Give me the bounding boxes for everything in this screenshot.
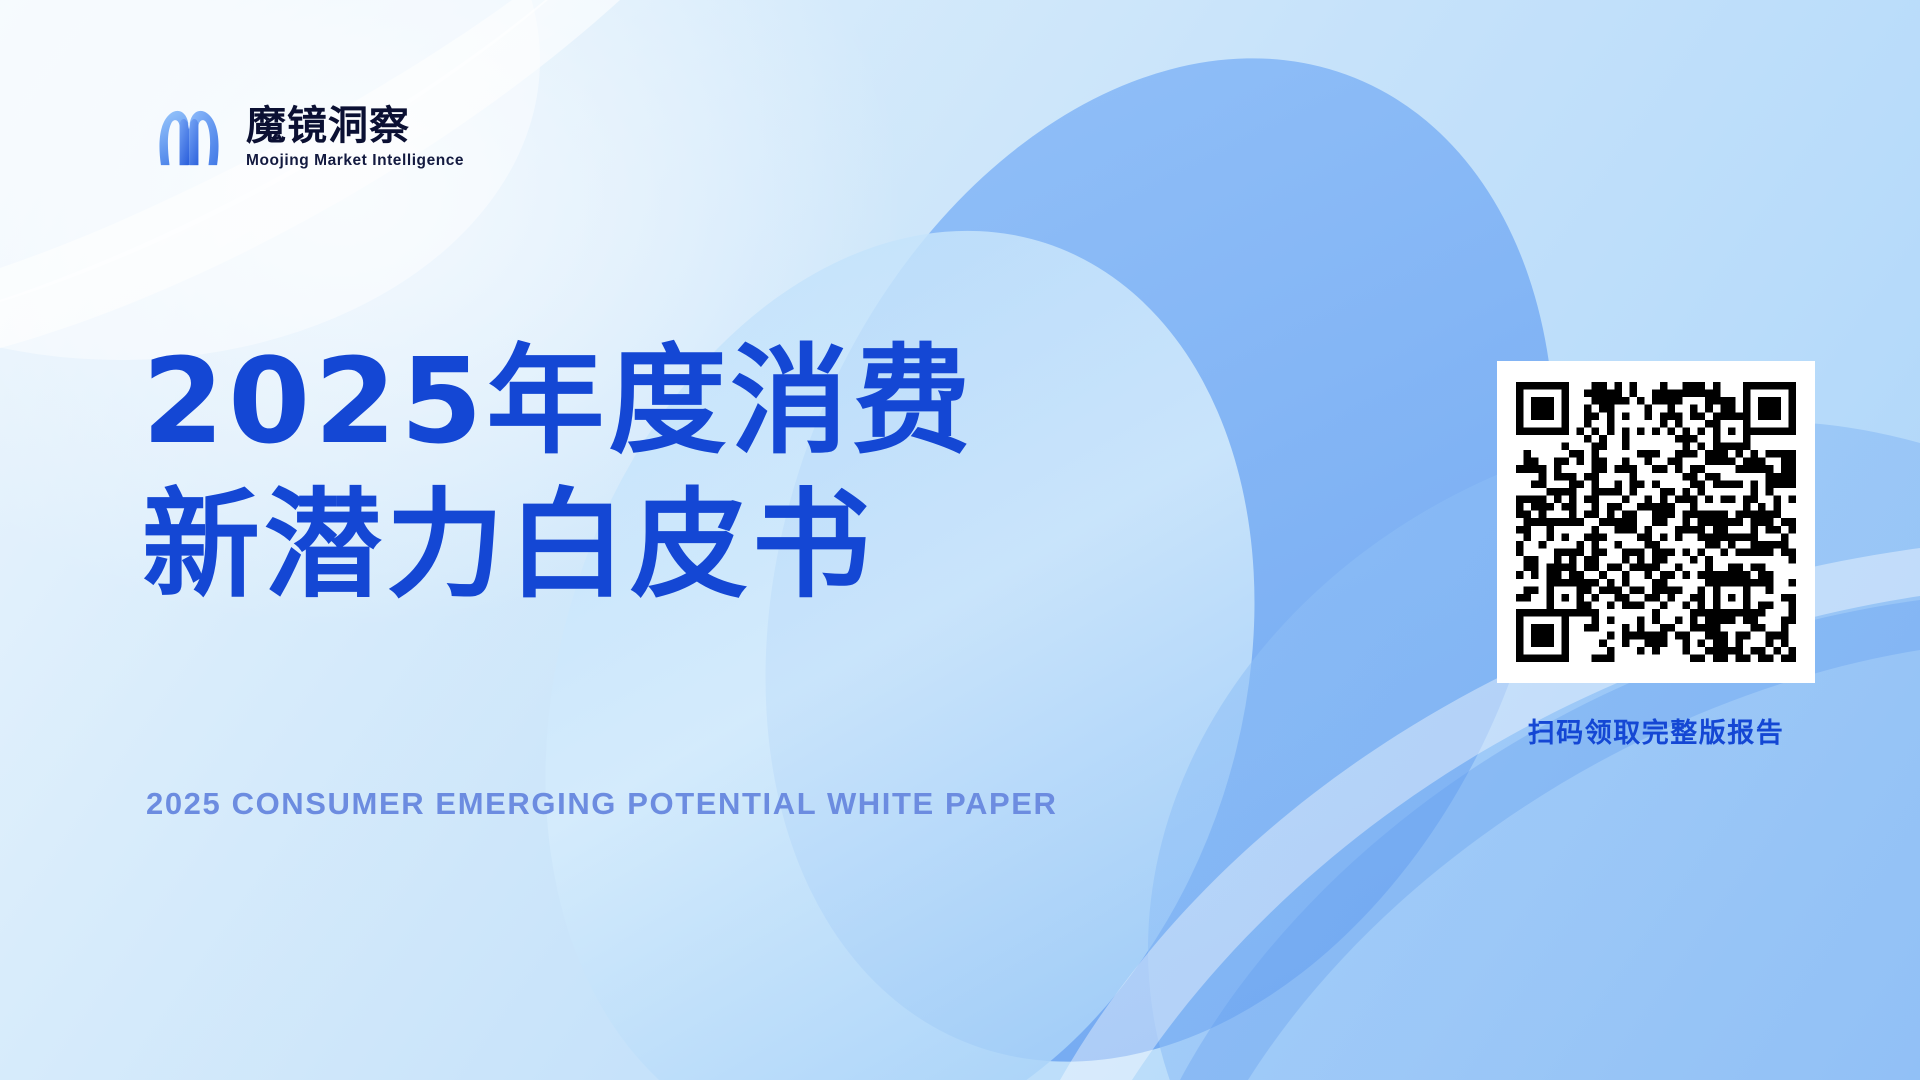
bg-glow-topleft [0,0,540,360]
brand-name-cn: 魔镜洞察 [246,105,464,147]
page-subtitle-en: 2025 CONSUMER EMERGING POTENTIAL WHITE P… [146,786,1058,822]
qr-code-icon[interactable] [1516,382,1796,662]
brand-logo-text: 魔镜洞察 Moojing Market Intelligence [246,105,464,170]
page-title-line-2: 新潜力白皮书 [142,474,974,618]
page-title-line-1: 2025年度消费 [142,330,974,474]
qr-block: 扫码领取完整版报告 [1497,361,1815,750]
brand-name-en: Moojing Market Intelligence [246,152,464,170]
brand-logo: 魔镜洞察 Moojing Market Intelligence [150,98,464,176]
whitepaper-cover: 魔镜洞察 Moojing Market Intelligence 2025年度消… [0,0,1920,1080]
page-title: 2025年度消费 新潜力白皮书 [142,330,974,618]
qr-caption: 扫码领取完整版报告 [1528,711,1785,750]
moojing-m-logo-icon [150,98,228,176]
qr-panel [1497,361,1815,683]
